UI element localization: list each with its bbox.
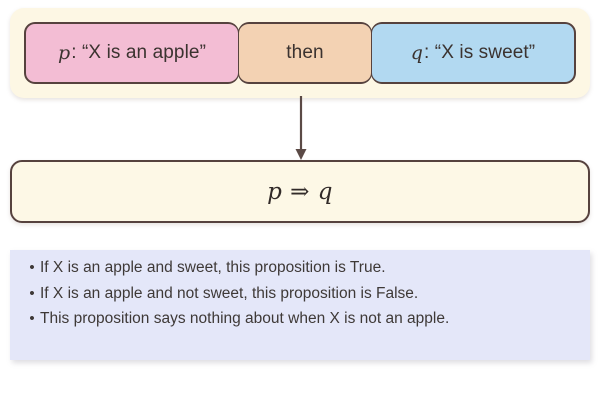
note-text: This proposition says nothing about when…	[40, 311, 576, 327]
connective-box[interactable]: then	[238, 22, 372, 84]
note-text: If X is an apple and not sweet, this pro…	[40, 286, 576, 302]
premise-row: p: “X is an apple” then q: “X is sweet”	[24, 22, 576, 84]
note-text: If X is an apple and sweet, this proposi…	[40, 260, 576, 276]
conclusion-box[interactable]: p ⇒ q	[10, 160, 590, 223]
antecedent-box[interactable]: p: “X is an apple”	[24, 22, 239, 84]
bullet-icon: •	[24, 260, 40, 275]
note-item: • This proposition says nothing about wh…	[24, 311, 576, 327]
notes-box: • If X is an apple and sweet, this propo…	[10, 250, 590, 360]
bullet-icon: •	[24, 286, 40, 301]
connective-label: then	[286, 42, 323, 64]
premise-container: p: “X is an apple” then q: “X is sweet”	[10, 8, 590, 98]
note-item: • If X is an apple and sweet, this propo…	[24, 260, 576, 276]
bullet-icon: •	[24, 311, 40, 326]
consequent-text: : “X is sweet”	[424, 42, 535, 64]
consequent-box[interactable]: q: “X is sweet”	[371, 22, 576, 84]
down-arrow-icon	[293, 96, 309, 162]
antecedent-text: : “X is an apple”	[71, 42, 206, 64]
antecedent-symbol: p	[58, 42, 71, 64]
conclusion-formula: p ⇒ q	[267, 179, 333, 205]
consequent-symbol: q	[411, 42, 424, 64]
note-item: • If X is an apple and not sweet, this p…	[24, 286, 576, 302]
